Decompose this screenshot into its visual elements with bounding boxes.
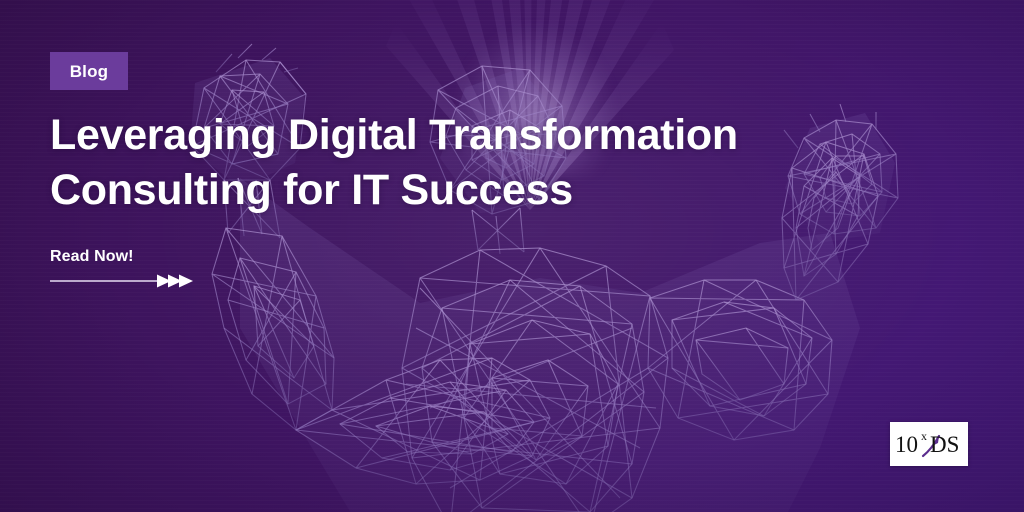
banner-content: Blog Leveraging Digital Transformation C… <box>50 0 870 512</box>
blog-banner: Blog Leveraging Digital Transformation C… <box>0 0 1024 512</box>
page-title: Leveraging Digital Transformation Consul… <box>50 108 850 218</box>
brand-logo[interactable]: 10 x DS <box>890 422 968 466</box>
read-now-cta[interactable]: Read Now! <box>50 248 310 293</box>
svg-text:DS: DS <box>930 432 959 457</box>
headline-line-1: Leveraging Digital Transformation <box>50 111 738 159</box>
svg-text:10: 10 <box>895 432 918 457</box>
arrow-right-triple-icon <box>50 274 310 293</box>
headline-line-2: Consulting for IT Success <box>50 163 850 218</box>
read-now-label: Read Now! <box>50 248 310 266</box>
svg-text:x: x <box>921 429 927 443</box>
category-badge[interactable]: Blog <box>50 52 128 90</box>
